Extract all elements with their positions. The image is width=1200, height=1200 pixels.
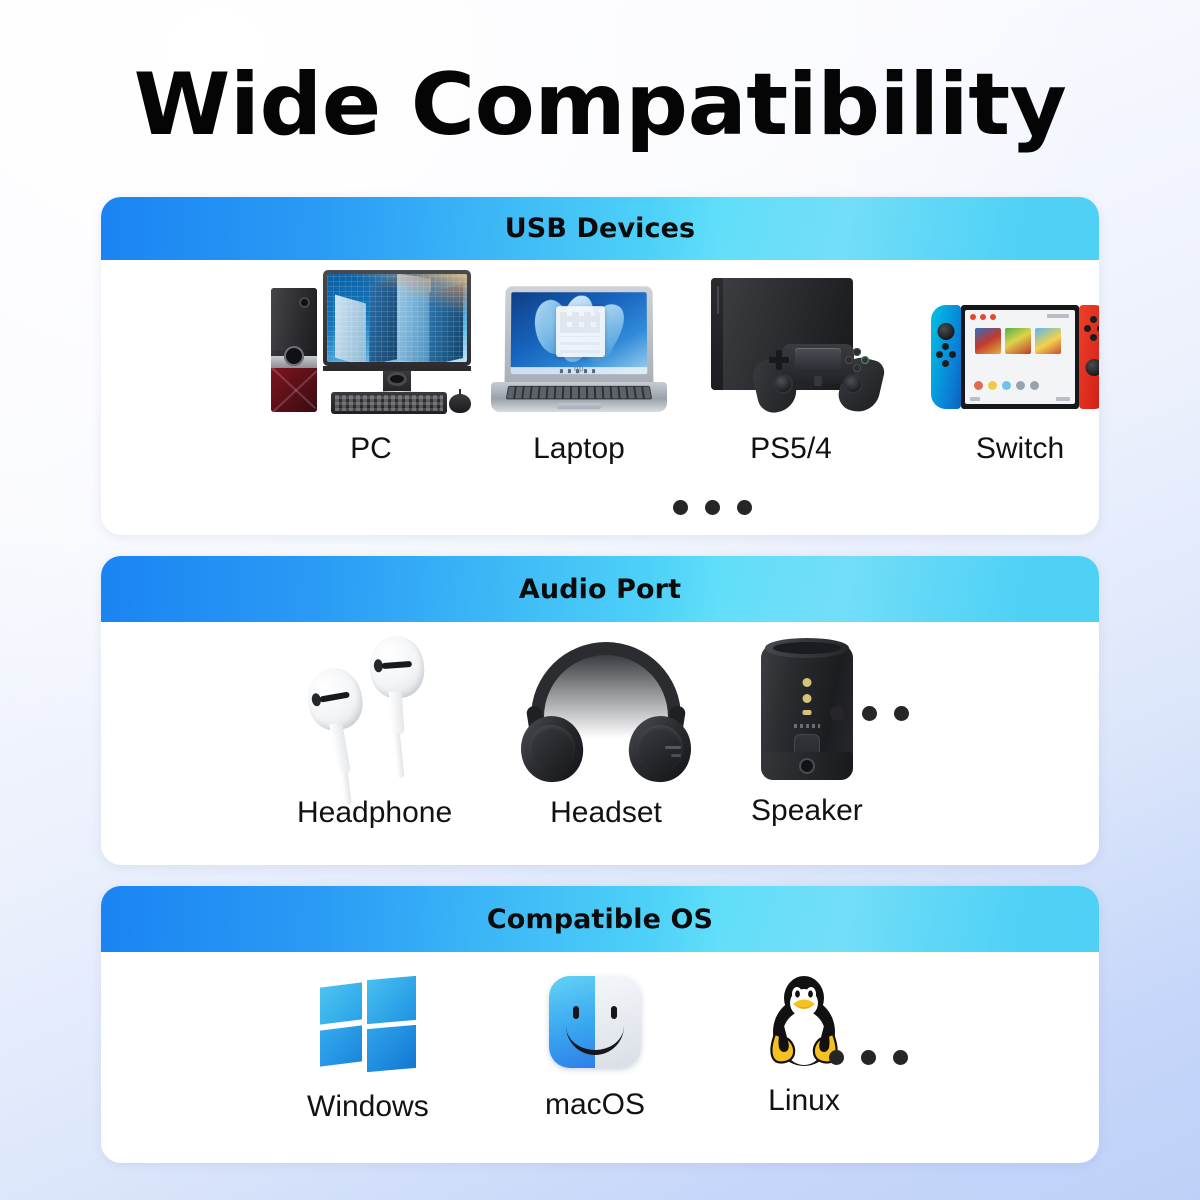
page-title: Wide Compatibility bbox=[0, 62, 1200, 148]
earbuds-icon bbox=[300, 632, 450, 782]
more-os-indicator bbox=[829, 1050, 908, 1065]
over-ear-headset-icon bbox=[521, 640, 691, 782]
infographic-page: Wide Compatibility USB Devices bbox=[0, 0, 1200, 1200]
device-label: PS5/4 bbox=[750, 432, 832, 466]
device-label: Headset bbox=[550, 796, 662, 830]
playstation-console-icon bbox=[701, 276, 881, 418]
section-body-audio-port: Headphone Headset bbox=[101, 622, 1099, 865]
nintendo-switch-icon bbox=[931, 294, 1099, 412]
os-label: Windows bbox=[307, 1090, 429, 1124]
section-header-audio-port: Audio Port bbox=[101, 556, 1099, 622]
os-label: Linux bbox=[768, 1084, 840, 1118]
device-label: Speaker bbox=[751, 794, 863, 828]
device-item-pc[interactable]: PC bbox=[271, 266, 471, 466]
laptop-icon: hp bbox=[491, 280, 667, 412]
laptop-brand-mark: hp bbox=[574, 364, 584, 373]
device-row-usb: PC hp bbox=[101, 266, 1099, 466]
os-item-linux[interactable]: Linux bbox=[761, 970, 847, 1118]
section-card-audio-port: Audio Port Headphone bbox=[101, 556, 1099, 865]
device-item-headphone[interactable]: Headphone bbox=[297, 632, 452, 830]
device-item-laptop[interactable]: hp Laptop bbox=[491, 280, 667, 466]
section-title: USB Devices bbox=[505, 213, 695, 244]
windows-logo-icon bbox=[320, 976, 416, 1070]
device-label: Laptop bbox=[533, 432, 625, 466]
section-title: Compatible OS bbox=[487, 904, 713, 935]
section-card-compatible-os: Compatible OS Windows bbox=[101, 886, 1099, 1163]
device-label: Headphone bbox=[297, 796, 452, 830]
device-item-switch[interactable]: Switch bbox=[931, 294, 1099, 466]
more-audio-indicator bbox=[830, 706, 909, 721]
os-item-macos[interactable]: macOS bbox=[545, 974, 645, 1122]
os-label: macOS bbox=[545, 1088, 645, 1122]
device-item-speaker[interactable]: Speaker bbox=[751, 636, 863, 828]
device-label: PC bbox=[350, 432, 392, 466]
section-body-usb-devices: PC hp bbox=[101, 260, 1099, 535]
section-header-usb-devices: USB Devices bbox=[101, 197, 1099, 260]
more-devices-indicator bbox=[673, 500, 752, 515]
section-card-usb-devices: USB Devices bbox=[101, 197, 1099, 535]
device-item-headset[interactable]: Headset bbox=[521, 640, 691, 830]
section-header-compatible-os: Compatible OS bbox=[101, 886, 1099, 952]
section-body-compatible-os: Windows macOS bbox=[101, 952, 1099, 1163]
macos-finder-icon bbox=[549, 974, 641, 1068]
device-item-playstation[interactable]: PS5/4 bbox=[701, 276, 881, 466]
device-label: Switch bbox=[976, 432, 1064, 466]
desktop-computer-icon bbox=[271, 266, 471, 418]
os-item-windows[interactable]: Windows bbox=[307, 976, 429, 1124]
section-title: Audio Port bbox=[519, 574, 681, 605]
